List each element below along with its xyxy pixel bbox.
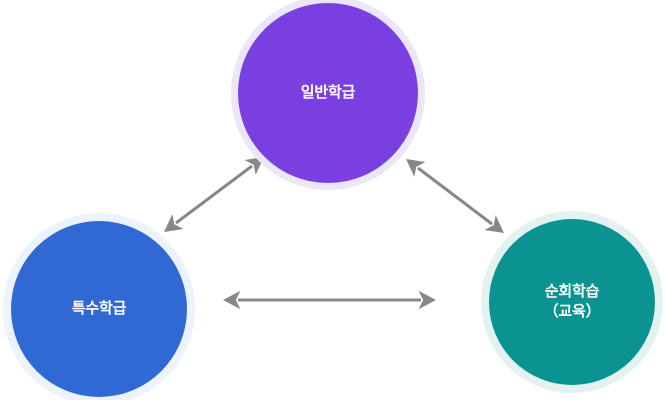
connector-special-to-itinerant <box>230 285 430 315</box>
arrow-line <box>176 166 252 223</box>
node-general-class[interactable]: 일반학급 <box>231 0 425 190</box>
connector-special-to-general <box>160 150 270 240</box>
node-special-class-circle: 특수학급 <box>11 221 187 397</box>
node-general-class-label: 일반학급 <box>301 83 355 103</box>
node-special-class-label: 특수학급 <box>72 299 126 319</box>
arrow-line <box>418 168 492 224</box>
node-general-class-circle: 일반학급 <box>238 3 418 183</box>
node-itinerant-education-circle: 순회학습 （교육） <box>489 219 655 385</box>
node-itinerant-education-label-line1: 순회학습 <box>545 282 599 302</box>
node-itinerant-education[interactable]: 순회학습 （교육） <box>481 211 663 393</box>
node-itinerant-education-label-line2: （교육） <box>544 302 601 322</box>
diagram-canvas: 일반학급 특수학급 순회학습 （교육） <box>0 0 665 400</box>
connector-general-to-itinerant <box>400 150 510 240</box>
node-special-class[interactable]: 특수학급 <box>3 213 195 400</box>
